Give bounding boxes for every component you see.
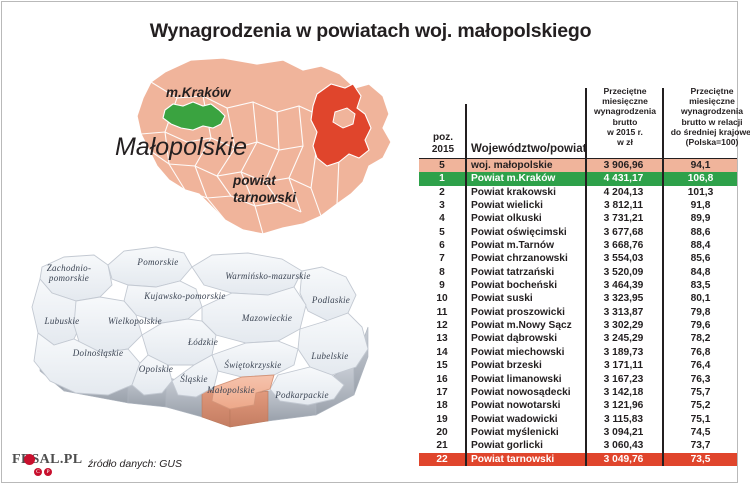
table-row[interactable]: 2Powiat krakowski4 204,13101,3 <box>419 186 737 199</box>
voivodeship-label: Śląskie <box>172 374 216 384</box>
cell-gross: 3 167,23 <box>585 373 662 386</box>
row-divider-2 <box>585 239 587 252</box>
row-divider-1 <box>465 319 467 332</box>
row-divider-1 <box>465 292 467 305</box>
row-divider-1 <box>465 266 467 279</box>
cell-rank: 3 <box>419 199 465 212</box>
column-header-name: Województwo/powiat <box>471 143 586 155</box>
cell-name: Powiat brzeski <box>471 359 542 372</box>
voivodeship-label: Małopolskie <box>196 385 266 395</box>
cell-rank: 16 <box>419 373 465 386</box>
cell-name: Powiat dąbrowski <box>471 332 557 345</box>
map-label-malopolskie: Małopolskie <box>115 133 247 162</box>
wages-table: poz. 2015 Województwo/powiat Przeciętnem… <box>419 86 737 466</box>
row-divider-1 <box>465 359 467 372</box>
table-row[interactable]: 20Powiat myślenicki3 094,2174,5 <box>419 426 737 439</box>
cell-rank: 21 <box>419 439 465 452</box>
voivodeship-label: Pomorskie <box>128 257 188 267</box>
row-divider-3 <box>662 172 664 185</box>
cell-rank: 8 <box>419 266 465 279</box>
cell-name: Powiat limanowski <box>471 373 562 386</box>
row-divider-3 <box>662 292 664 305</box>
voivodeship-label: Kujawsko-pomorskie <box>134 291 236 301</box>
forsal-logo-o-icon <box>24 454 35 465</box>
cell-rank: 11 <box>419 306 465 319</box>
row-divider-1 <box>465 386 467 399</box>
table-row[interactable]: 17Powiat nowosądecki3 142,1875,7 <box>419 386 737 399</box>
cell-rank: 6 <box>419 239 465 252</box>
voivodeship-label: Opolskie <box>128 364 184 374</box>
cell-gross: 3 906,96 <box>585 159 662 172</box>
header-divider-1 <box>465 104 467 159</box>
row-divider-1 <box>465 346 467 359</box>
cell-gross: 4 431,17 <box>585 172 662 185</box>
cell-gross: 3 060,43 <box>585 439 662 452</box>
row-divider-1 <box>465 332 467 345</box>
header-divider-3 <box>662 88 664 159</box>
cell-gross: 4 204,13 <box>585 186 662 199</box>
table-row[interactable]: 15Powiat brzeski3 171,1176,4 <box>419 359 737 372</box>
cell-name: woj. małopolskie <box>471 159 553 172</box>
cell-name: Powiat myślenicki <box>471 426 559 439</box>
cell-name: Powiat olkuski <box>471 212 542 225</box>
publisher-badge-icon: P <box>44 468 52 476</box>
table-row[interactable]: 4Powiat olkuski3 731,2189,9 <box>419 212 737 225</box>
table-row[interactable]: 14Powiat miechowski3 189,7376,8 <box>419 346 737 359</box>
cell-gross: 3 171,11 <box>585 359 662 372</box>
table-row[interactable]: 5woj. małopolskie3 906,9694,1 <box>419 159 737 172</box>
row-divider-2 <box>585 346 587 359</box>
row-divider-1 <box>465 373 467 386</box>
cell-name: Powiat m.Nowy Sącz <box>471 319 572 332</box>
row-divider-1 <box>465 279 467 292</box>
row-divider-2 <box>585 279 587 292</box>
cell-name: Powiat m.Kraków <box>471 172 555 185</box>
voivodeship-label-line1: Zachodnio- <box>47 263 92 273</box>
row-divider-2 <box>585 212 587 225</box>
cell-rank: 19 <box>419 413 465 426</box>
forsal-logo[interactable]: FRSAL.PL C P <box>12 451 100 481</box>
row-divider-3 <box>662 279 664 292</box>
cell-name: Powiat wielicki <box>471 199 543 212</box>
cell-index: 73,7 <box>662 439 739 452</box>
table-row[interactable]: 10Powiat suski3 323,9580,1 <box>419 292 737 305</box>
table-row[interactable]: 18Powiat nowotarski3 121,9675,2 <box>419 399 737 412</box>
cell-name: Powiat wadowicki <box>471 413 558 426</box>
cell-index: 88,4 <box>662 239 739 252</box>
table-row[interactable]: 9Powiat bocheński3 464,3983,5 <box>419 279 737 292</box>
cell-gross: 3 464,39 <box>585 279 662 292</box>
cell-rank: 4 <box>419 212 465 225</box>
row-divider-2 <box>585 439 587 452</box>
row-divider-2 <box>585 399 587 412</box>
table-row[interactable]: 3Powiat wielicki3 812,1191,8 <box>419 199 737 212</box>
cell-gross: 3 731,21 <box>585 212 662 225</box>
row-divider-3 <box>662 159 664 172</box>
row-divider-1 <box>465 239 467 252</box>
row-divider-1 <box>465 199 467 212</box>
table-row[interactable]: 19Powiat wadowicki3 115,8375,1 <box>419 413 737 426</box>
cell-name: Powiat chrzanowski <box>471 252 568 265</box>
header-divider-2 <box>585 88 587 159</box>
cell-name: Powiat nowotarski <box>471 399 560 412</box>
cell-rank: 7 <box>419 252 465 265</box>
cell-index: 88,6 <box>662 226 739 239</box>
row-divider-2 <box>585 226 587 239</box>
row-divider-3 <box>662 319 664 332</box>
row-divider-3 <box>662 186 664 199</box>
cell-gross: 3 677,68 <box>585 226 662 239</box>
cell-index: 106,8 <box>662 172 739 185</box>
cell-gross: 3 142,18 <box>585 386 662 399</box>
table-row[interactable]: 13Powiat dąbrowski3 245,2978,2 <box>419 332 737 345</box>
row-divider-1 <box>465 186 467 199</box>
table-row[interactable]: 22Powiat tarnowski3 049,7673,5 <box>419 453 737 466</box>
table-row[interactable]: 12Powiat m.Nowy Sącz3 302,2979,6 <box>419 319 737 332</box>
cell-rank: 13 <box>419 332 465 345</box>
cell-index: 101,3 <box>662 186 739 199</box>
row-divider-3 <box>662 359 664 372</box>
row-divider-2 <box>585 306 587 319</box>
cell-rank: 2 <box>419 186 465 199</box>
row-divider-3 <box>662 239 664 252</box>
row-divider-1 <box>465 426 467 439</box>
row-divider-3 <box>662 266 664 279</box>
voivodeship-label: Lubelskie <box>300 351 360 361</box>
voivodeship-label: Wielkopolskie <box>96 316 174 326</box>
table-row[interactable]: 8Powiat tatrzański3 520,0984,8 <box>419 266 737 279</box>
cell-name: Powiat miechowski <box>471 346 564 359</box>
row-divider-3 <box>662 373 664 386</box>
cell-name: Powiat bocheński <box>471 279 557 292</box>
cell-rank: 5 <box>419 159 465 172</box>
cell-rank: 12 <box>419 319 465 332</box>
cell-rank: 20 <box>419 426 465 439</box>
column-header-rank: poz. 2015 <box>421 132 465 156</box>
cell-index: 91,8 <box>662 199 739 212</box>
forsal-logo-text: FRSAL.PL <box>12 452 83 468</box>
cell-gross: 3 049,76 <box>585 453 662 466</box>
cell-index: 80,1 <box>662 292 739 305</box>
row-divider-3 <box>662 439 664 452</box>
row-divider-3 <box>662 226 664 239</box>
table-row[interactable]: 21Powiat gorlicki3 060,4373,7 <box>419 439 737 452</box>
cell-gross: 3 313,87 <box>585 306 662 319</box>
cell-rank: 1 <box>419 172 465 185</box>
cell-index: 76,3 <box>662 373 739 386</box>
cell-gross: 3 323,95 <box>585 292 662 305</box>
cell-gross: 3 668,76 <box>585 239 662 252</box>
cell-index: 94,1 <box>662 159 739 172</box>
row-divider-3 <box>662 212 664 225</box>
cell-rank: 10 <box>419 292 465 305</box>
table-row[interactable]: 5Powiat oświęcimski3 677,6888,6 <box>419 226 737 239</box>
cell-index: 78,2 <box>662 332 739 345</box>
cell-gross: 3 520,09 <box>585 266 662 279</box>
malopolskie-region-map: m.Kraków Małopolskie powiat tarnowski <box>107 54 407 249</box>
page-title: Wynagrodzenia w powiatach woj. małopolsk… <box>2 20 739 43</box>
row-divider-2 <box>585 319 587 332</box>
cell-rank: 9 <box>419 279 465 292</box>
map-label-powiat-tarnowski: powiat tarnowski <box>233 172 296 206</box>
table-row[interactable]: 11Powiat proszowicki3 313,8779,8 <box>419 306 737 319</box>
cell-index: 75,7 <box>662 386 739 399</box>
map-label-powiat-line2: tarnowski <box>233 190 296 205</box>
cell-rank: 17 <box>419 386 465 399</box>
cell-gross: 3 245,29 <box>585 332 662 345</box>
cell-index: 79,6 <box>662 319 739 332</box>
row-divider-3 <box>662 199 664 212</box>
row-divider-1 <box>465 159 467 172</box>
table-row[interactable]: 1Powiat m.Kraków4 431,17106,8 <box>419 172 737 185</box>
column-header-rank-line2: 2015 <box>432 144 454 155</box>
cell-index: 89,9 <box>662 212 739 225</box>
column-header-rank-line1: poz. <box>433 132 453 143</box>
cell-gross: 3 189,73 <box>585 346 662 359</box>
row-divider-3 <box>662 453 664 466</box>
voivodeship-label: Świętokrzyskie <box>212 360 294 370</box>
voivodeship-label-line2: pomorskie <box>49 273 89 283</box>
row-divider-3 <box>662 413 664 426</box>
cell-name: Powiat suski <box>471 292 533 305</box>
voivodeship-label: Lubuskie <box>34 316 90 326</box>
cell-name: Powiat oświęcimski <box>471 226 567 239</box>
row-divider-1 <box>465 212 467 225</box>
cell-rank: 22 <box>419 453 465 466</box>
row-divider-2 <box>585 292 587 305</box>
voivodeship-label: Warmińsko-mazurskie <box>212 271 324 281</box>
cell-gross: 3 115,83 <box>585 413 662 426</box>
row-divider-1 <box>465 453 467 466</box>
cell-index: 84,8 <box>662 266 739 279</box>
row-divider-2 <box>585 252 587 265</box>
row-divider-2 <box>585 426 587 439</box>
map-label-krakow: m.Kraków <box>166 85 231 100</box>
table-body: 5woj. małopolskie3 906,9694,11Powiat m.K… <box>419 159 737 466</box>
voivodeship-label: Łódzkie <box>178 337 228 347</box>
row-divider-3 <box>662 306 664 319</box>
cell-name: Powiat nowosądecki <box>471 386 571 399</box>
copyright-badge-icon: C <box>34 468 42 476</box>
row-divider-2 <box>585 373 587 386</box>
cell-name: Powiat proszowicki <box>471 306 565 319</box>
cell-name: Powiat krakowski <box>471 186 556 199</box>
row-divider-2 <box>585 386 587 399</box>
cell-rank: 5 <box>419 226 465 239</box>
row-divider-2 <box>585 453 587 466</box>
row-divider-3 <box>662 399 664 412</box>
cell-index: 73,5 <box>662 453 739 466</box>
row-divider-1 <box>465 226 467 239</box>
cell-name: Powiat tatrzański <box>471 266 554 279</box>
table-row[interactable]: 7Powiat chrzanowski3 554,0385,6 <box>419 252 737 265</box>
row-divider-2 <box>585 266 587 279</box>
voivodeship-label: Mazowieckie <box>228 313 306 323</box>
cell-index: 76,8 <box>662 346 739 359</box>
row-divider-1 <box>465 306 467 319</box>
cell-name: Powiat gorlicki <box>471 439 543 452</box>
row-divider-2 <box>585 172 587 185</box>
column-header-gross: Przeciętnemiesięcznewynagrodzeniabruttow… <box>587 86 663 147</box>
poland-voivodeship-map: Zachodnio- pomorskie Pomorskie Warmińsko… <box>16 245 391 450</box>
row-divider-1 <box>465 399 467 412</box>
voivodeship-label: Podlaskie <box>302 295 360 305</box>
row-divider-2 <box>585 359 587 372</box>
cell-rank: 15 <box>419 359 465 372</box>
cell-index: 79,8 <box>662 306 739 319</box>
row-divider-3 <box>662 332 664 345</box>
cell-gross: 3 121,96 <box>585 399 662 412</box>
cell-gross: 3 094,21 <box>585 426 662 439</box>
row-divider-1 <box>465 439 467 452</box>
cell-index: 74,5 <box>662 426 739 439</box>
column-header-index: Przeciętnemiesięcznewynagrodzeniabrutto … <box>665 86 750 147</box>
voivodeship-label: Dolnośląskie <box>60 348 136 358</box>
voivodeship-label: Podkarpackie <box>264 390 340 400</box>
row-divider-2 <box>585 332 587 345</box>
table-header: poz. 2015 Województwo/powiat Przeciętnem… <box>419 86 737 159</box>
map-label-powiat-line1: powiat <box>233 173 276 188</box>
cell-index: 83,5 <box>662 279 739 292</box>
row-divider-1 <box>465 172 467 185</box>
cell-index: 75,1 <box>662 413 739 426</box>
cell-gross: 3 812,11 <box>585 199 662 212</box>
source-note: źródło danych: GUS <box>88 458 182 470</box>
cell-rank: 14 <box>419 346 465 359</box>
cell-index: 75,2 <box>662 399 739 412</box>
row-divider-2 <box>585 199 587 212</box>
cell-index: 76,4 <box>662 359 739 372</box>
row-divider-1 <box>465 413 467 426</box>
table-row[interactable]: 16Powiat limanowski3 167,2376,3 <box>419 373 737 386</box>
cell-name: Powiat tarnowski <box>471 453 554 466</box>
row-divider-2 <box>585 186 587 199</box>
row-divider-2 <box>585 413 587 426</box>
voivodeship-label: Zachodnio- pomorskie <box>38 263 100 283</box>
row-divider-3 <box>662 252 664 265</box>
cell-name: Powiat m.Tarnów <box>471 239 554 252</box>
cell-rank: 18 <box>419 399 465 412</box>
row-divider-3 <box>662 346 664 359</box>
row-divider-2 <box>585 159 587 172</box>
row-divider-3 <box>662 426 664 439</box>
row-divider-3 <box>662 386 664 399</box>
infographic-canvas: Wynagrodzenia w powiatach woj. małopolsk… <box>1 1 738 483</box>
table-row[interactable]: 6Powiat m.Tarnów3 668,7688,4 <box>419 239 737 252</box>
cell-index: 85,6 <box>662 252 739 265</box>
cell-gross: 3 554,03 <box>585 252 662 265</box>
row-divider-1 <box>465 252 467 265</box>
cell-gross: 3 302,29 <box>585 319 662 332</box>
